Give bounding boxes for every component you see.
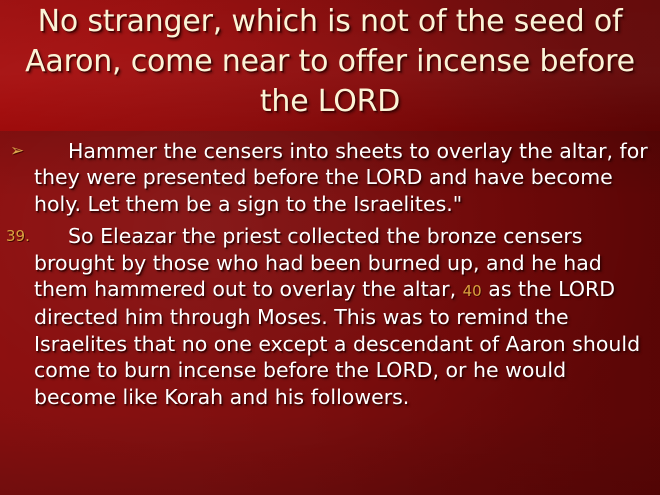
slide-body: ➢ Hammer the censers into sheets to over… <box>0 138 660 410</box>
arrow-bullet-icon: ➢ <box>10 138 38 164</box>
paragraph-1-text: Hammer the censers into sheets to overla… <box>34 139 648 216</box>
inline-verse-number-40: 40 <box>463 282 482 300</box>
body-paragraph-2: 39. So Eleazar the priest collected the … <box>0 223 660 410</box>
presentation-slide: No stranger, which is not of the seed of… <box>0 0 660 495</box>
verse-number-39: 39. <box>6 223 34 249</box>
slide-title: No stranger, which is not of the seed of… <box>24 2 636 122</box>
body-paragraph-1: ➢ Hammer the censers into sheets to over… <box>0 138 660 217</box>
